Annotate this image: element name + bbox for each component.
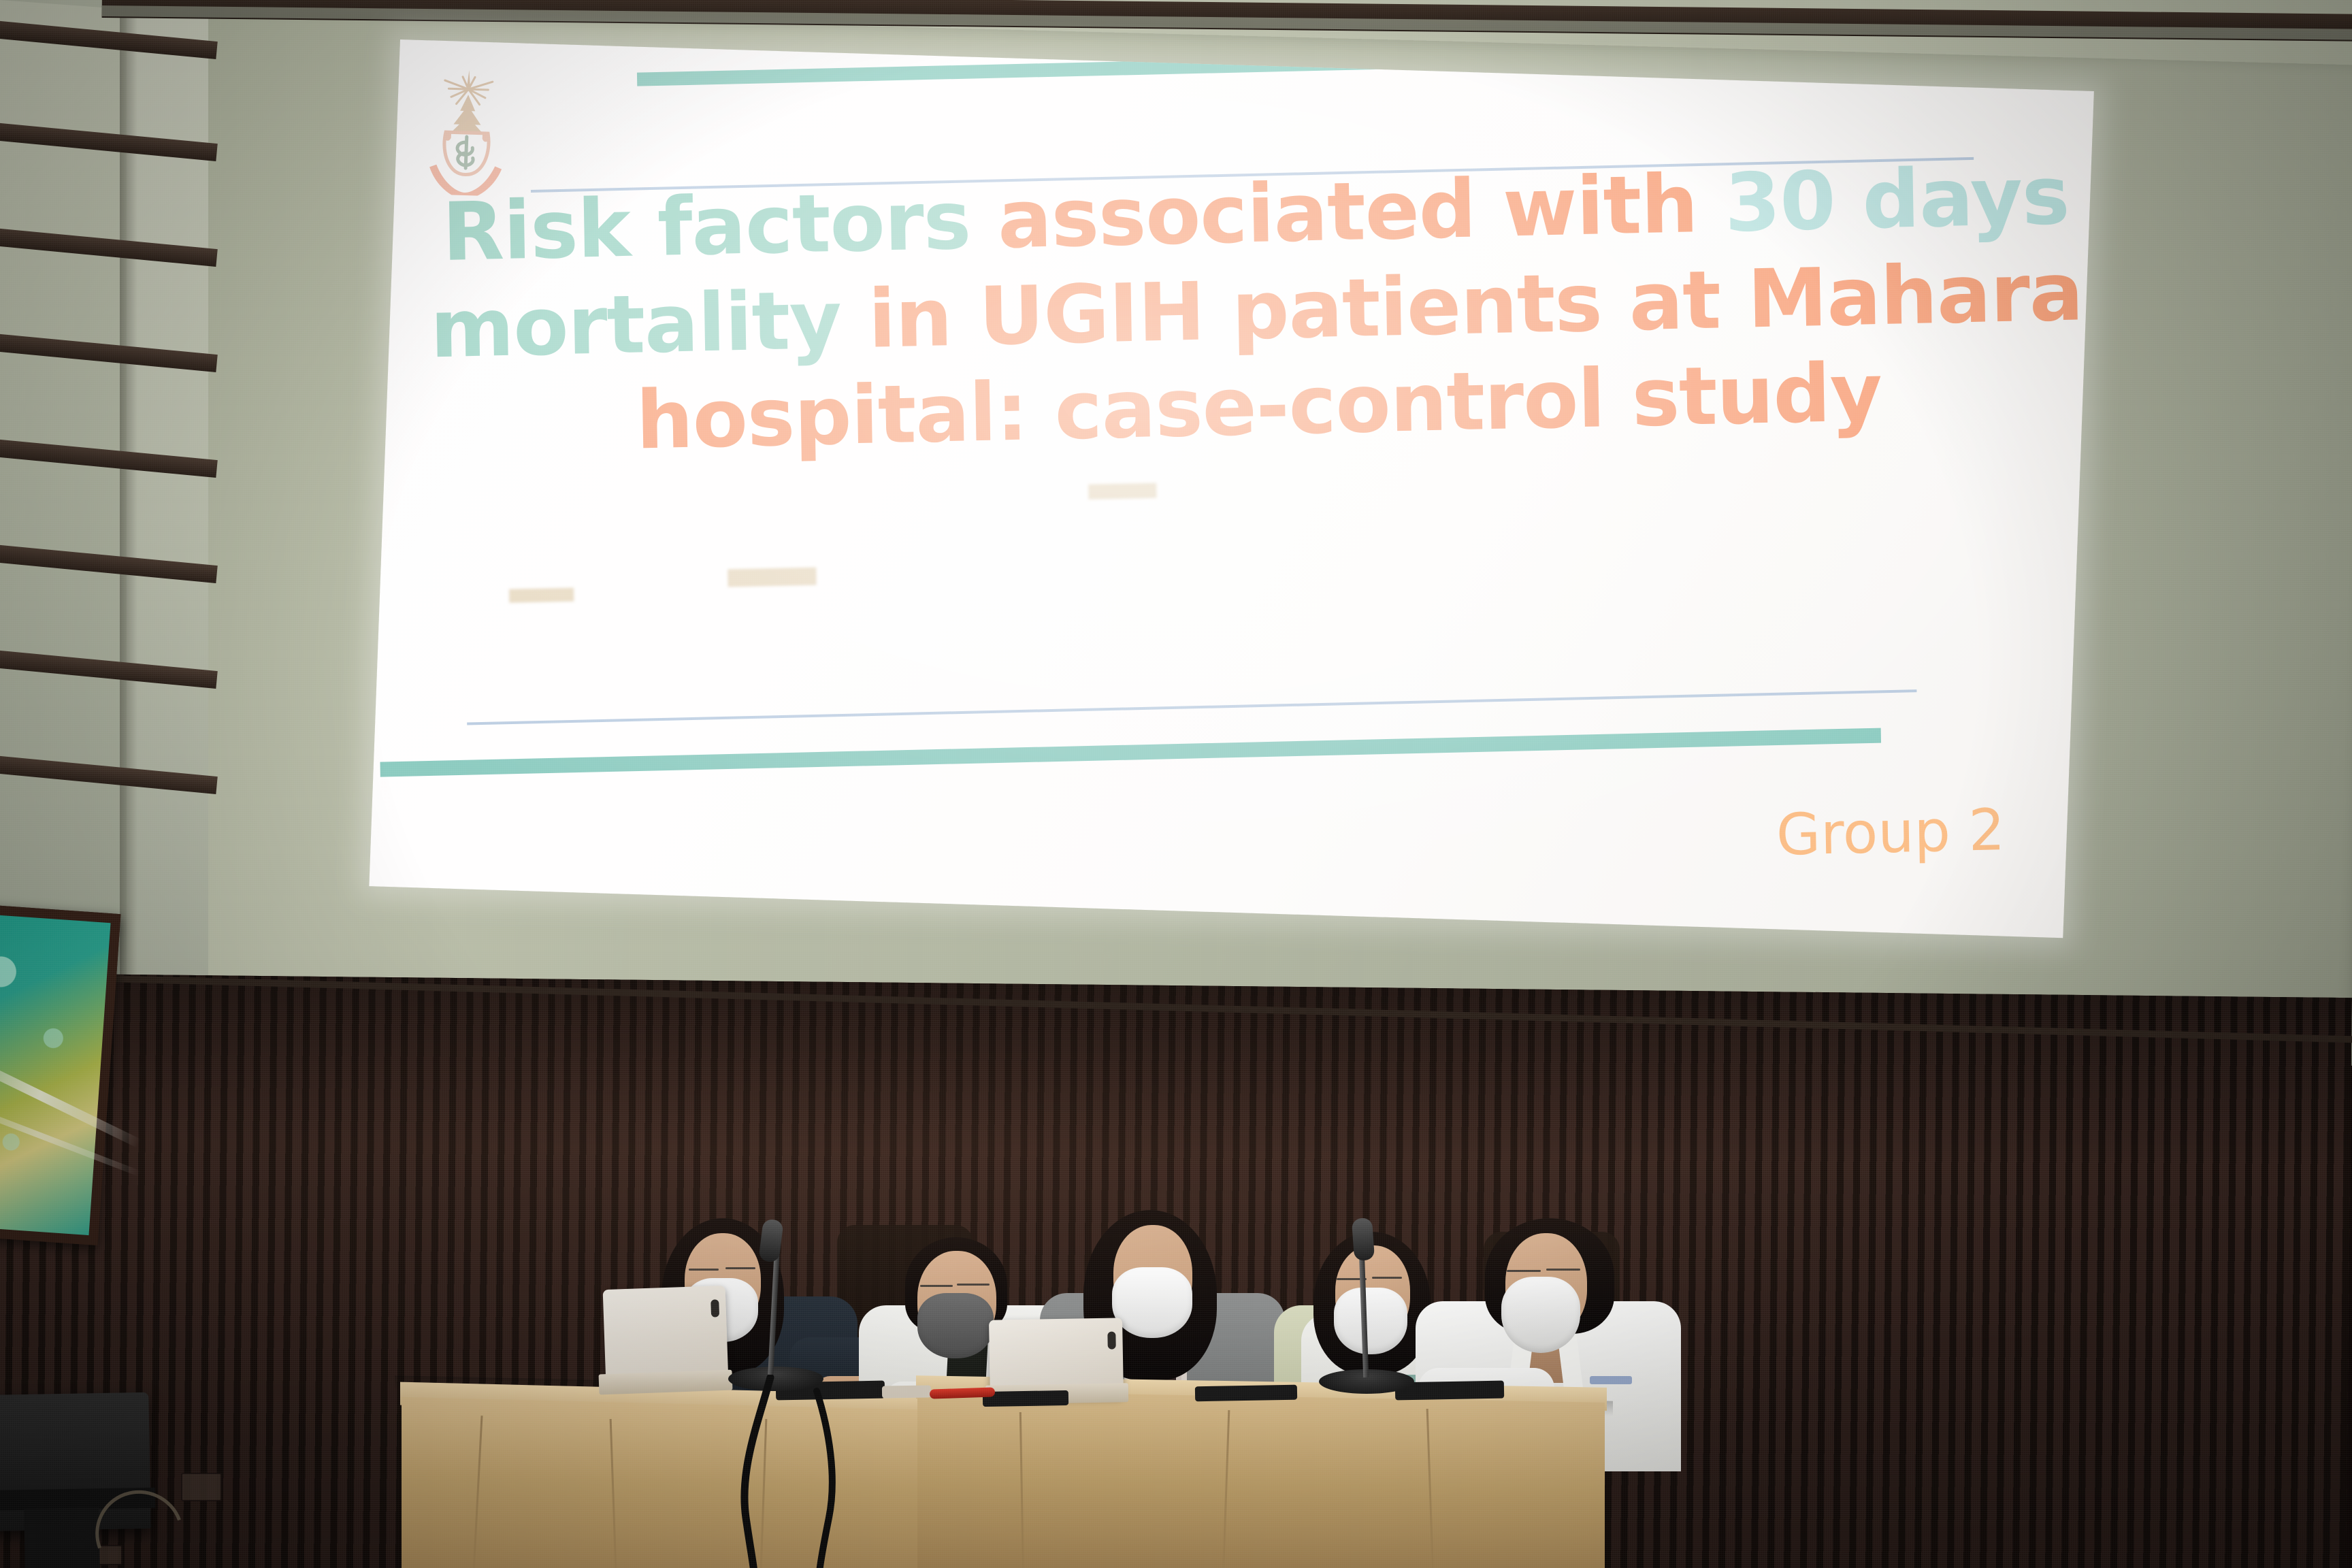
slide-thick-bottom-rule bbox=[380, 728, 1881, 777]
panelist-5-eyeglasses bbox=[1507, 1270, 1541, 1272]
panelist-2-eyeglasses bbox=[920, 1285, 953, 1287]
poster-artwork bbox=[0, 914, 111, 1235]
panelist-2-eyeglasses bbox=[957, 1284, 990, 1286]
thai-royal-institution-emblem-icon bbox=[414, 65, 521, 197]
panelist-1-eyeglasses bbox=[689, 1269, 719, 1271]
slide-surface: Risk factors associated with 30 days mor… bbox=[369, 39, 2094, 938]
left-wall-facet-a bbox=[0, 0, 136, 1031]
tablet-camera-icon bbox=[710, 1299, 719, 1317]
projection-artifact bbox=[728, 568, 816, 587]
projection-artifact bbox=[1088, 483, 1156, 500]
microphone-right-head bbox=[1352, 1218, 1375, 1261]
projection-artifact bbox=[509, 588, 574, 603]
panelist-5-eyeglasses bbox=[1546, 1269, 1580, 1271]
panelist-4-eyeglasses bbox=[1372, 1277, 1402, 1279]
title-seg-risk-factors: Risk factors bbox=[442, 172, 998, 278]
panelist-4-face-mask bbox=[1334, 1288, 1407, 1354]
panelist-3-face-mask bbox=[1112, 1267, 1192, 1338]
panelist-5-shirt-embroidery bbox=[1590, 1376, 1632, 1384]
phone-on-table[interactable] bbox=[1195, 1385, 1297, 1402]
projected-slide: Risk factors associated with 30 days mor… bbox=[369, 39, 2094, 938]
microphone-cable bbox=[612, 1375, 994, 1568]
slide-title: Risk factors associated with 30 days mor… bbox=[387, 147, 2087, 474]
wall-outlet bbox=[181, 1473, 222, 1501]
presentation-photo-scene: Risk factors associated with 30 days mor… bbox=[0, 0, 2352, 1568]
phone-on-table[interactable] bbox=[983, 1390, 1068, 1407]
monitor-stand bbox=[24, 1507, 100, 1568]
slide-thin-bottom-rule bbox=[467, 689, 1916, 725]
title-seg-associated-with: associated with bbox=[997, 156, 1726, 266]
slide-group-label: Group 2 bbox=[1487, 796, 2033, 875]
panelist-5-face-mask bbox=[1501, 1277, 1580, 1353]
panelist-2-face-mask bbox=[917, 1293, 994, 1358]
title-seg-mortality: mortality bbox=[429, 272, 869, 376]
tablet-camera-icon bbox=[1107, 1331, 1115, 1349]
title-seg-30-days: 30 days bbox=[1724, 148, 2070, 250]
panelist-1-eyeglasses bbox=[725, 1267, 755, 1269]
